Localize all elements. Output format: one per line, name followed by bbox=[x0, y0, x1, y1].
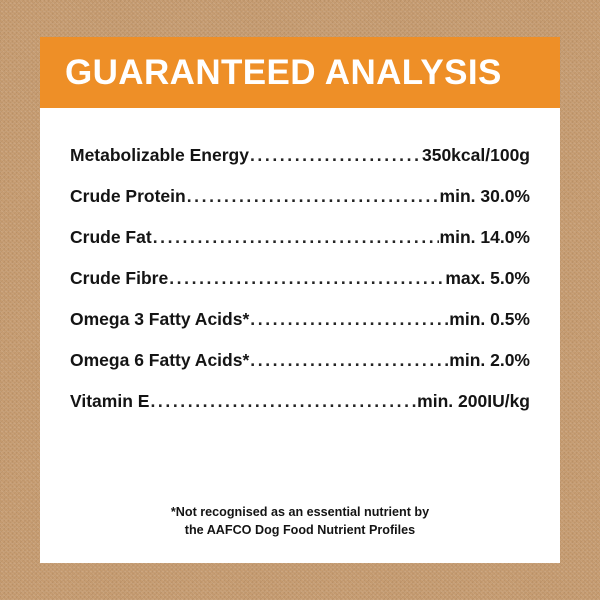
label-canvas: GUARANTEED ANALYSIS Metabolizable Energy… bbox=[0, 0, 600, 600]
nutrient-table: Metabolizable Energy....................… bbox=[70, 145, 530, 432]
dot-leader: ........................................… bbox=[150, 393, 416, 411]
dot-leader: ........................................… bbox=[250, 147, 421, 165]
nutrient-label: Crude Protein bbox=[70, 186, 186, 207]
nutrient-value: 350kcal/100g bbox=[422, 145, 530, 166]
dot-leader: ........................................… bbox=[153, 229, 439, 247]
page-title: GUARANTEED ANALYSIS bbox=[65, 37, 540, 108]
table-row: Crude Fat...............................… bbox=[70, 227, 530, 268]
nutrient-label: Crude Fibre bbox=[70, 268, 168, 289]
footnote-line-2: the AAFCO Dog Food Nutrient Profiles bbox=[40, 521, 560, 539]
header-band: GUARANTEED ANALYSIS bbox=[40, 37, 560, 108]
table-row: Metabolizable Energy....................… bbox=[70, 145, 530, 186]
dot-leader: ........................................… bbox=[169, 270, 444, 288]
footnote: *Not recognised as an essential nutrient… bbox=[40, 503, 560, 539]
nutrient-label: Omega 3 Fatty Acids* bbox=[70, 309, 249, 330]
nutrient-label: Vitamin E bbox=[70, 391, 149, 412]
dot-leader: ........................................… bbox=[250, 311, 448, 329]
nutrient-label: Omega 6 Fatty Acids* bbox=[70, 350, 249, 371]
nutrient-value: min. 0.5% bbox=[449, 309, 530, 330]
table-row: Omega 6 Fatty Acids*....................… bbox=[70, 350, 530, 391]
nutrient-label: Metabolizable Energy bbox=[70, 145, 249, 166]
dot-leader: ........................................… bbox=[187, 188, 439, 206]
nutrient-value: min. 2.0% bbox=[449, 350, 530, 371]
table-row: Crude Fibre.............................… bbox=[70, 268, 530, 309]
footnote-line-1: *Not recognised as an essential nutrient… bbox=[40, 503, 560, 521]
nutrient-value: min. 14.0% bbox=[440, 227, 530, 248]
nutrient-label: Crude Fat bbox=[70, 227, 152, 248]
nutrient-value: min. 30.0% bbox=[440, 186, 530, 207]
nutrient-value: max. 5.0% bbox=[445, 268, 530, 289]
table-row: Vitamin E...............................… bbox=[70, 391, 530, 432]
nutrient-value: min. 200IU/kg bbox=[417, 391, 530, 412]
dot-leader: ........................................… bbox=[250, 352, 448, 370]
guaranteed-analysis-panel: GUARANTEED ANALYSIS Metabolizable Energy… bbox=[40, 37, 560, 563]
table-row: Omega 3 Fatty Acids*....................… bbox=[70, 309, 530, 350]
table-row: Crude Protein...........................… bbox=[70, 186, 530, 227]
